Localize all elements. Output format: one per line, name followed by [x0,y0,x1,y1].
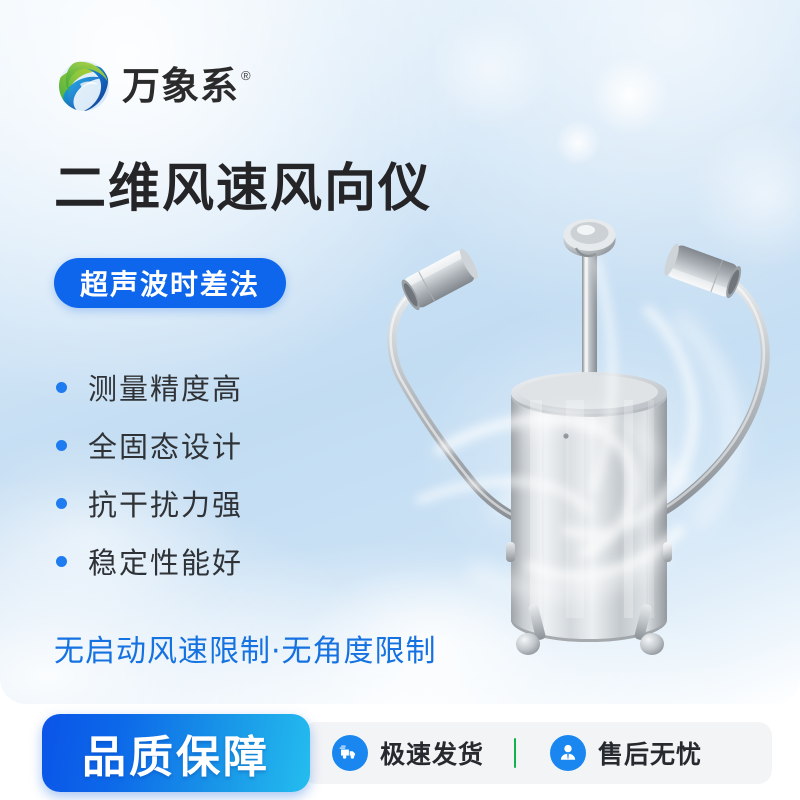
quality-guarantee-badge: 品质保障 [42,714,310,792]
quality-guarantee-label: 品质保障 [82,721,270,785]
feature-label: 抗干扰力强 [88,482,243,524]
service-label: 售后无忧 [598,735,702,771]
list-item: 全固态设计 [56,416,243,474]
list-item: 抗干扰力强 [56,474,243,532]
feature-label: 全固态设计 [88,424,243,466]
customer-service-person-icon [550,735,586,771]
bullet-dot-icon [56,440,67,451]
service-highlights: 极速发货 售后无忧 [302,722,772,784]
service-item-shipping: 极速发货 [332,735,484,771]
service-divider [514,738,516,768]
page-title: 二维风速风向仪 [54,160,432,219]
bullet-dot-icon [56,498,67,509]
brand-name: 万象系 [122,67,239,105]
footer-bar: 极速发货 售后无忧 品质保障 [0,704,800,800]
service-item-aftersales: 售后无忧 [550,735,702,771]
technology-badge: 超声波时差法 [54,258,286,308]
poster-canvas: 万象系 ® 二维风速风向仪 超声波时差法 测量精度高 全固态设计 抗干扰力强 稳… [0,0,800,800]
service-label: 极速发货 [380,735,484,771]
delivery-truck-icon [332,735,368,771]
background-glow [430,10,550,130]
list-item: 测量精度高 [56,358,243,416]
background-glow [590,55,670,135]
feature-label: 测量精度高 [88,366,243,408]
background-glow [555,120,601,166]
brand-logo: 万象系 ® [56,58,251,114]
product-image [380,200,800,700]
list-item: 稳定性能好 [56,532,243,590]
bullet-dot-icon [56,382,67,393]
feature-list: 测量精度高 全固态设计 抗干扰力强 稳定性能好 [56,358,243,590]
registered-trademark-symbol: ® [241,69,251,82]
feature-label: 稳定性能好 [88,540,243,582]
globe-swirl-icon [56,58,112,114]
bullet-dot-icon [56,556,67,567]
